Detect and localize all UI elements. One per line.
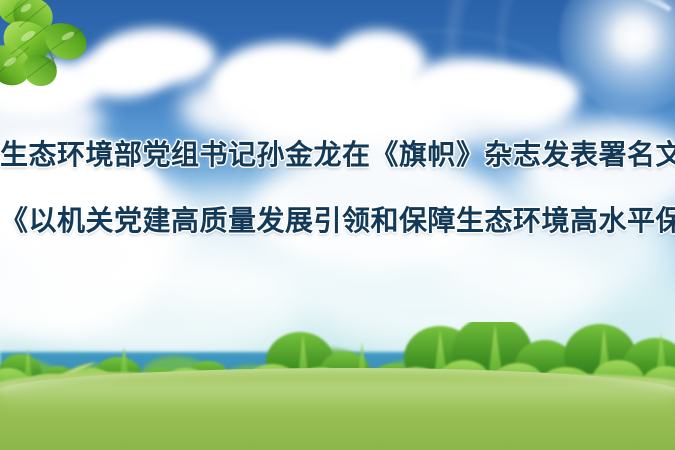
poster-image: 生态环境部党组书记孙金龙在《旗帜》杂志发表署名文章 《以机关党建高质量发展引领和… <box>0 0 675 450</box>
poster-title-line-1: 生态环境部党组书记孙金龙在《旗帜》杂志发表署名文章 <box>0 138 675 172</box>
poster-title: 生态环境部党组书记孙金龙在《旗帜》杂志发表署名文章 《以机关党建高质量发展引领和… <box>0 138 675 238</box>
grass-highlight <box>0 382 675 412</box>
poster-title-line-2: 《以机关党建高质量发展引领和保障生态环境高水平保护》 <box>0 204 675 238</box>
leaf-branch-icon <box>0 0 108 94</box>
